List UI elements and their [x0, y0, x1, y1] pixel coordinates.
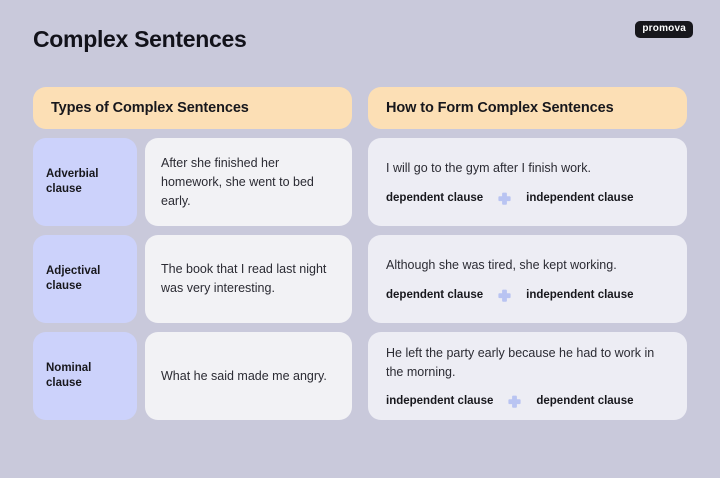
plus-icon	[497, 288, 512, 303]
clause-formula: dependent clause independent clause	[386, 191, 669, 206]
plus-icon	[497, 191, 512, 206]
clause-formula: independent clause dependent clause	[386, 394, 669, 409]
clause-example-text: The book that I read last night was very…	[145, 235, 352, 323]
clause-type-label: Adverbial clause	[33, 138, 137, 226]
types-column-heading: Types of Complex Sentences	[33, 87, 352, 129]
table-row: Adjectival clause The book that I read l…	[33, 235, 352, 323]
formation-sentence: I will go to the gym after I finish work…	[386, 159, 669, 177]
page-title: Complex Sentences	[33, 26, 246, 53]
clause-type-label: Adjectival clause	[33, 235, 137, 323]
clause-example-text: After she finished her homework, she wen…	[145, 138, 352, 226]
clause-example-text: What he said made me angry.	[145, 332, 352, 420]
left-clause-label: dependent clause	[386, 192, 483, 204]
left-clause-label: independent clause	[386, 395, 493, 407]
formation-card: I will go to the gym after I finish work…	[368, 138, 687, 226]
formation-card: He left the party early because he had t…	[368, 332, 687, 420]
formation-column-heading: How to Form Complex Sentences	[368, 87, 687, 129]
columns-container: Types of Complex Sentences Adverbial cla…	[33, 87, 687, 429]
plus-icon	[507, 394, 522, 409]
clause-type-label: Nominal clause	[33, 332, 137, 420]
right-clause-label: independent clause	[526, 192, 633, 204]
promova-logo: promova	[635, 21, 693, 38]
left-clause-label: dependent clause	[386, 289, 483, 301]
clause-formula: dependent clause independent clause	[386, 288, 669, 303]
table-row: Nominal clause What he said made me angr…	[33, 332, 352, 420]
formation-column: How to Form Complex Sentences I will go …	[368, 87, 687, 429]
table-row: Adverbial clause After she finished her …	[33, 138, 352, 226]
right-clause-label: independent clause	[526, 289, 633, 301]
formation-sentence: He left the party early because he had t…	[386, 344, 669, 380]
right-clause-label: dependent clause	[536, 395, 633, 407]
formation-sentence: Although she was tired, she kept working…	[386, 256, 669, 274]
infographic-page: Complex Sentences promova Types of Compl…	[0, 0, 720, 478]
formation-card: Although she was tired, she kept working…	[368, 235, 687, 323]
types-column: Types of Complex Sentences Adverbial cla…	[33, 87, 352, 429]
